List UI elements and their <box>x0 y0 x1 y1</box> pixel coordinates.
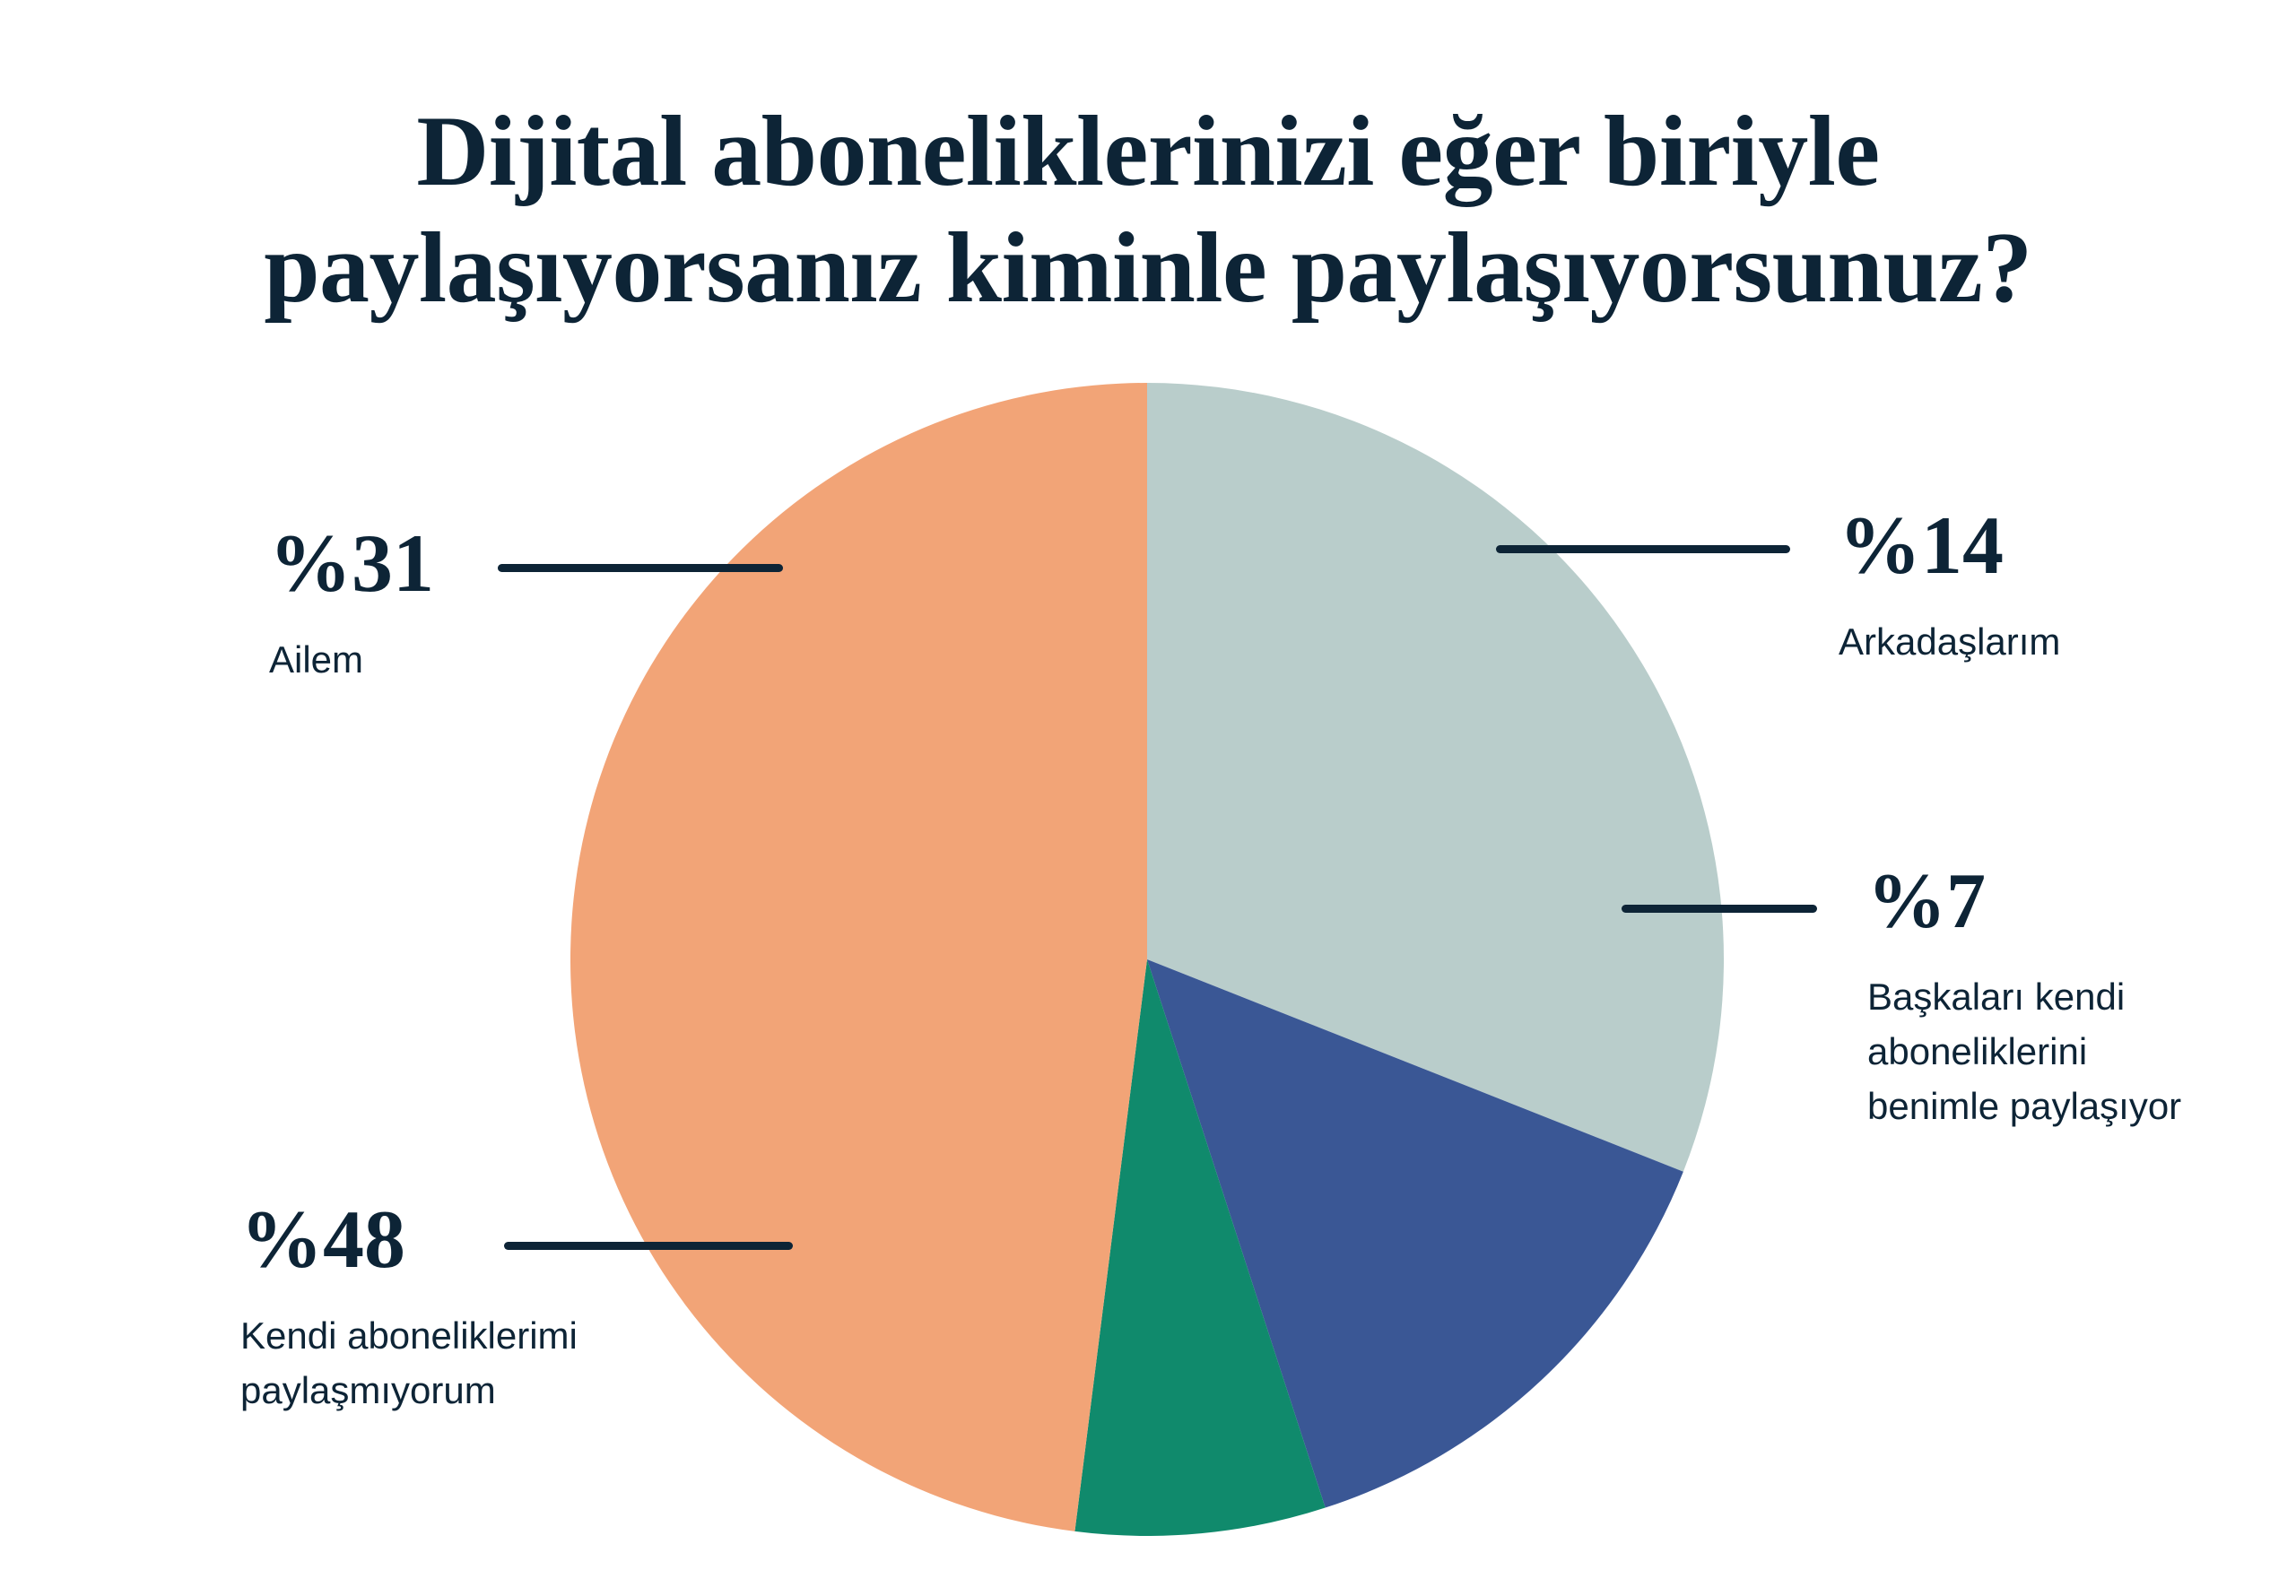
callout-others-label: Başkaları kendi aboneliklerini benimle p… <box>1867 970 2289 1134</box>
callout-friends-percent: %14 <box>1839 504 2260 586</box>
callout-family-label: Ailem <box>269 633 646 688</box>
callout-friends: %14 Arkadaşlarım <box>1839 504 2260 670</box>
callout-noshare-percent: %48 <box>240 1198 743 1280</box>
callout-others-percent: %7 <box>1867 863 2289 941</box>
pie-chart-svg <box>570 383 1724 1536</box>
leader-line-others <box>1622 905 1817 913</box>
pie-chart <box>570 383 1724 1536</box>
chart-page: Dijital aboneliklerinizi eğer biriyle pa… <box>0 0 2296 1596</box>
callout-family: %31 Ailem <box>269 522 646 688</box>
callout-noshare-label: Kendi aboneliklerimi paylaşmıyorum <box>240 1309 743 1418</box>
callout-noshare: %48 Kendi aboneliklerimi paylaşmıyorum <box>240 1198 743 1418</box>
callout-friends-label: Arkadaşlarım <box>1839 615 2260 670</box>
leader-line-friends <box>1496 545 1790 553</box>
callout-others: %7 Başkaları kendi aboneliklerini beniml… <box>1867 863 2289 1134</box>
chart-title: Dijital aboneliklerinizi eğer biriyle pa… <box>0 94 2296 327</box>
callout-family-percent: %31 <box>269 522 646 604</box>
